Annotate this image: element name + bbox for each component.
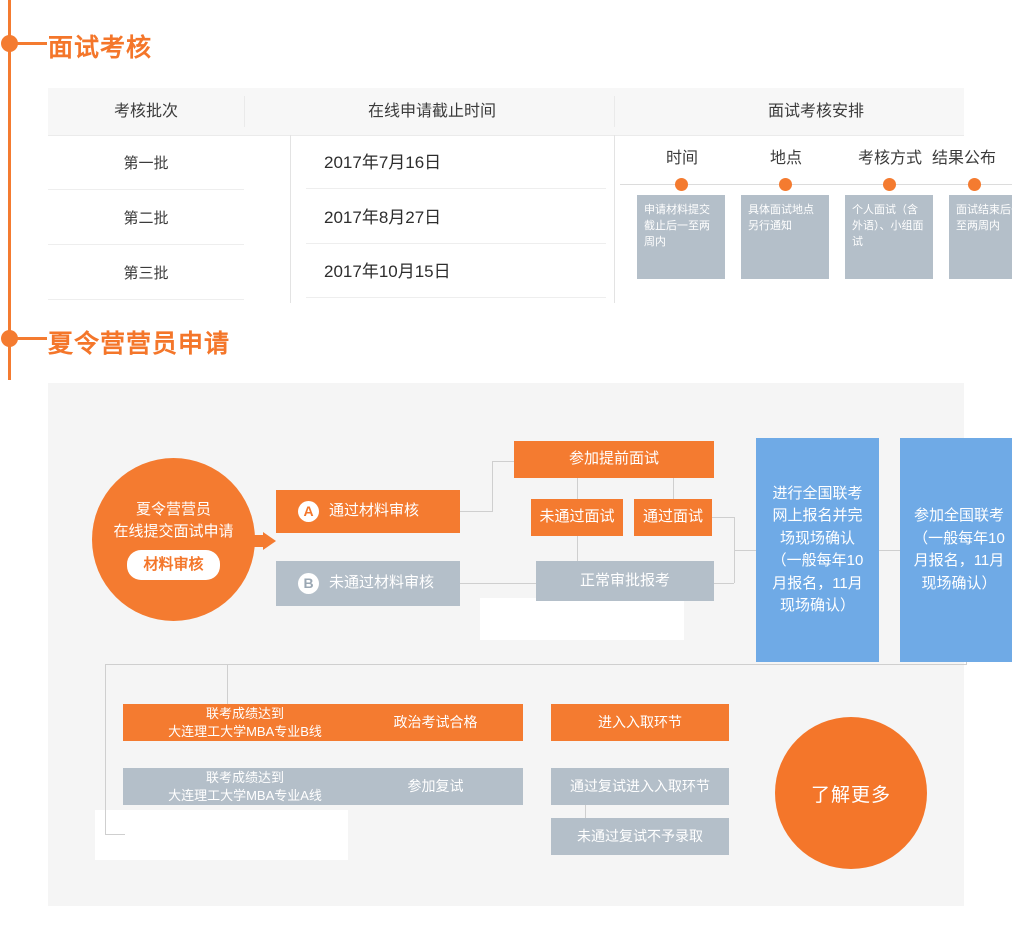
- timeline-dot-4: [968, 178, 981, 191]
- start-arrow-icon: [263, 532, 276, 550]
- timeline-label-result: 结果公布: [920, 144, 1008, 168]
- start-node-line2: 在线提交面试申请: [113, 521, 233, 544]
- node-fail-interview: 未通过面试: [531, 499, 623, 536]
- table-header-deadline: 在线申请截止时间: [258, 88, 606, 135]
- node-pre-interview: 参加提前面试: [514, 441, 714, 478]
- timeline-detail-place: 具体面试地点另行通知: [741, 195, 829, 279]
- timeline-dot-3: [883, 178, 896, 191]
- column-separator-1: [290, 135, 291, 303]
- node-score-a-line1: 联考成绩达到: [206, 769, 284, 787]
- node-enter-admission: 进入入取环节: [551, 704, 729, 741]
- node-score-b-line2: 大连理工大学MBA专业B线: [168, 723, 322, 741]
- connector-a-out: [460, 511, 492, 512]
- connector-to-score-a: [105, 834, 125, 835]
- node-branch-b-label: 未通过材料审核: [329, 573, 434, 593]
- connector-reg-to-exam: [878, 550, 900, 551]
- table-row: 第二批: [48, 193, 244, 245]
- node-join-national-exam: 参加全国联考（一般每年10月报名，11月现场确认）: [900, 438, 1012, 662]
- connector-b-to-normal: [460, 583, 536, 584]
- node-fail-second-interview: 未通过复试不予录取: [551, 818, 729, 855]
- interview-table: 考核批次 在线申请截止时间 面试考核安排 第一批 第二批 第三批 2017年7月…: [48, 88, 964, 303]
- rail-dot-camp: [1, 330, 18, 347]
- node-score-line-a: 联考成绩达到 大连理工大学MBA专业A线: [123, 768, 367, 805]
- start-node-pill: 材料审核: [127, 550, 219, 581]
- rail-stub-camp: [17, 337, 47, 340]
- application-flowchart: 夏令营营员 在线提交面试申请 材料审核 A 通过材料审核 B 未通过材料审核 参…: [48, 383, 964, 906]
- timeline-dot-1: [675, 178, 688, 191]
- section-title-interview: 面试考核: [48, 28, 152, 64]
- node-score-line-b: 联考成绩达到 大连理工大学MBA专业B线: [123, 704, 367, 741]
- header-divider-1: [244, 96, 245, 127]
- node-politics-pass: 政治考试合格: [348, 704, 523, 741]
- node-pass-second-interview: 通过复试进入入取环节: [551, 768, 729, 805]
- rail-dot-interview: [1, 35, 18, 52]
- timeline-dot-2: [779, 178, 792, 191]
- table-header-batch: 考核批次: [48, 88, 244, 135]
- node-second-interview: 参加复试: [348, 768, 523, 805]
- connector-pre-to-pass: [673, 477, 674, 499]
- section-title-camp: 夏令营营员申请: [48, 324, 230, 360]
- node-pass-interview: 通过面试: [634, 499, 712, 536]
- timeline-label-time: 时间: [638, 144, 726, 168]
- connector-bottom-bus: [105, 664, 967, 665]
- learn-more-button[interactable]: 了解更多: [775, 717, 927, 869]
- timeline-detail-method: 个人面试（含外语）、小组面试: [845, 195, 933, 279]
- connector-a-up: [492, 461, 493, 512]
- connector-into-online-reg: [734, 550, 756, 551]
- header-divider-2: [614, 96, 615, 127]
- node-score-b-line1: 联考成绩达到: [206, 705, 284, 723]
- arrangement-timeline: 时间 地点 考核方式 结果公布 申请材料提交截止后一至两周内 具体面试地点另行通…: [620, 135, 1012, 303]
- connector-to-pre-interview: [492, 461, 514, 462]
- table-row: 第一批: [48, 138, 244, 190]
- timeline-rail: [8, 0, 11, 380]
- rail-stub-interview: [17, 42, 47, 45]
- start-node: 夏令营营员 在线提交面试申请 材料审核: [92, 458, 255, 621]
- table-row: 第三批: [48, 248, 244, 300]
- column-separator-2: [614, 135, 615, 303]
- connector-bottom-left-v: [105, 664, 106, 834]
- node-branch-a: A 通过材料审核: [276, 490, 460, 533]
- page-root: 面试考核 夏令营营员申请 考核批次 在线申请截止时间 面试考核安排 第一批 第二…: [0, 0, 1012, 943]
- table-row: 2017年8月27日: [306, 192, 606, 244]
- connector-normal-right: [712, 583, 734, 584]
- filler-block-top: [480, 598, 684, 640]
- badge-b-icon: B: [298, 573, 319, 594]
- node-branch-b: B 未通过材料审核: [276, 561, 460, 606]
- connector-pass-right: [712, 517, 734, 518]
- start-node-line1: 夏令营营员: [136, 499, 211, 522]
- timeline-detail-result: 面试结束后一至两周内: [949, 195, 1012, 279]
- node-branch-a-label: 通过材料审核: [329, 501, 419, 521]
- node-normal-apply: 正常审批报考: [536, 561, 714, 601]
- table-header-arrangement: 面试考核安排: [620, 88, 1012, 135]
- filler-block-bottom: [95, 810, 348, 860]
- timeline-detail-time: 申请材料提交截止后一至两周内: [637, 195, 725, 279]
- table-row: 2017年10月15日: [306, 246, 606, 298]
- table-row: 2017年7月16日: [306, 137, 606, 189]
- node-score-a-line2: 大连理工大学MBA专业A线: [168, 787, 322, 805]
- node-online-registration: 进行全国联考网上报名并完场现场确认（一般每年10月报名，11月现场确认）: [756, 438, 879, 662]
- badge-a-icon: A: [298, 501, 319, 522]
- timeline-label-place: 地点: [742, 144, 830, 168]
- connector-pre-to-fail: [577, 477, 578, 499]
